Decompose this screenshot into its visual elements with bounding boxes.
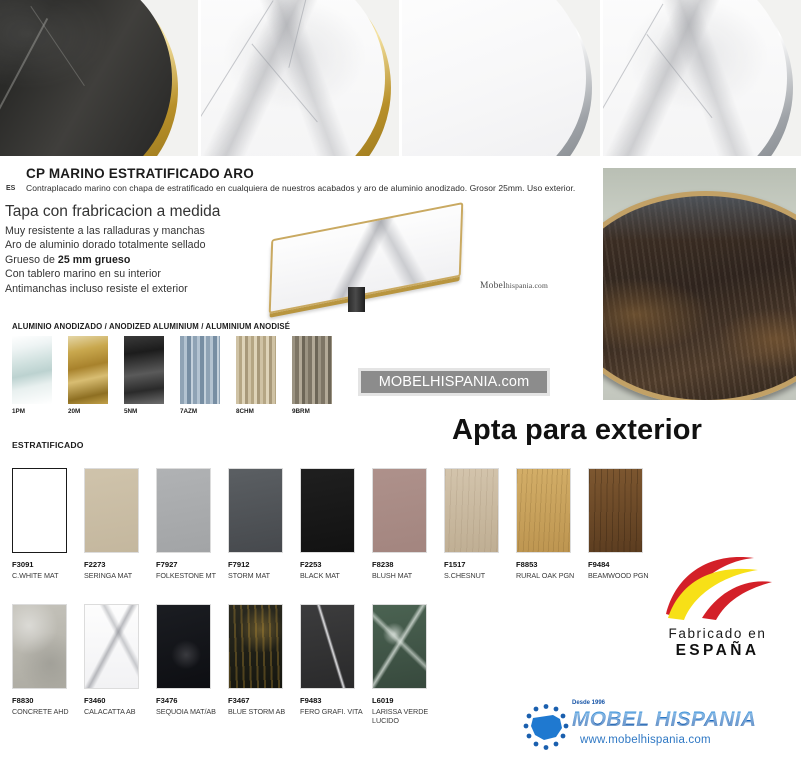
laminate-swatch-color [228,468,283,553]
made-in-spain-badge: Fabricado en ESPAÑA [640,548,795,660]
exterior-banner-text: Apta para exterior [452,414,702,447]
spain-map-icon [522,704,570,750]
aluminium-swatch-color [180,336,220,404]
aluminium-swatch-code: 9BRM [292,408,332,415]
marble-vein [289,0,311,68]
table-column [348,287,365,312]
round-stone-tabletop [603,191,796,400]
laminate-swatch-name: SEQUOIA MAT/AB [156,707,224,716]
laminate-swatch-code: F7912 [228,560,296,569]
laminate-swatch-code: F8830 [12,696,80,705]
laminate-swatch-l6019[interactable]: L6019LARISSA VERDE LUCIDO [372,604,440,725]
laminate-swatch-code: F7927 [156,560,224,569]
laminate-swatch-color [156,468,211,553]
marble-vein [0,18,48,129]
laminate-swatch-name: SERINGA MAT [84,571,152,580]
hero-image-strip [0,0,801,156]
laminate-swatch-code: F9483 [300,696,368,705]
laminate-swatch-name: CALACATTA AB [84,707,152,716]
laminate-swatch-color [444,468,499,553]
laminate-swatch-f3091[interactable]: F3091C.WHITE MAT [12,468,80,580]
laminate-swatch-f7912[interactable]: F7912STORM MAT [228,468,296,580]
catalog-page: CP MARINO ESTRATIFICADO ARO ES Contrapla… [0,0,801,768]
thickness-value: 25 mm grueso [58,254,130,266]
marble-vein [201,0,274,118]
laminate-swatch-name: S.CHESNUT [444,571,512,580]
laminate-swatch-row-2: F8830CONCRETE AHDF3460CALACATTA ABF3476S… [12,604,444,725]
laminate-swatch-color [156,604,211,689]
brand-logo[interactable]: Desde 1996 MOBEL HISPANIA www.mobelhispa… [522,700,794,758]
laminate-swatch-f3476[interactable]: F3476SEQUOIA MAT/AB [156,604,224,725]
logo-brand-name: MOBEL HISPANIA [572,708,756,732]
laminate-swatch-color [84,468,139,553]
laminate-swatch-name: CONCRETE AHD [12,707,80,716]
laminate-swatch-name: LARISSA VERDE LUCIDO [372,707,440,725]
table-top-slab [269,202,464,314]
spain-flag-icon [658,548,778,620]
laminate-swatch-f8238[interactable]: F8238BLUSH MAT [372,468,440,580]
aluminium-swatch-9brm[interactable]: 9BRM [292,336,332,415]
product-render: Mobelhispania.com [262,205,512,310]
laminate-swatch-name: RURAL OAK PGN [516,571,584,580]
laminate-swatch-f7927[interactable]: F7927FOLKESTONE MT [156,468,224,580]
laminate-swatch-name: FERO GRAFI. VITA [300,707,368,716]
laminate-swatch-f1517[interactable]: F1517S.CHESNUT [444,468,512,580]
watermark-box: MOBELHISPANIA.com [358,368,550,396]
made-in-spain-line1: Fabricado en [640,626,795,641]
feature-item: Muy resistente a las ralladuras y mancha… [5,224,255,238]
laminate-swatch-f8830[interactable]: F8830CONCRETE AHD [12,604,80,725]
render-watermark-main: Mobel [480,281,506,291]
aluminium-swatch-code: 1PM [12,408,52,415]
laminate-swatch-code: F2253 [300,560,368,569]
laminate-swatch-code: F1517 [444,560,512,569]
aluminium-section-heading: ALUMINIO ANODIZADO / ANODIZED ALUMINIUM … [12,322,290,331]
outdoor-table-photo [603,168,796,400]
aluminium-swatch-color [124,336,164,404]
marble-vein [646,34,712,118]
features-heading: Tapa con frabricacion a medida [5,203,220,221]
marble-vein [603,4,664,121]
watermark-box-text: MOBELHISPANIA.com [379,374,530,390]
laminate-section-heading: ESTRATIFICADO [12,440,84,450]
marble-vein [30,5,84,85]
hero-panel-black-marble-gold-rim [0,0,198,156]
laminate-swatch-code: F3091 [12,560,80,569]
laminate-swatch-code: F3460 [84,696,152,705]
laminate-swatch-color [588,468,643,553]
aluminium-swatch-color [68,336,108,404]
table-surface-white-marble [603,0,787,156]
laminate-swatch-color [228,604,283,689]
language-tag-es: ES [6,185,15,192]
laminate-swatch-name: STORM MAT [228,571,296,580]
laminate-swatch-f2273[interactable]: F2273SERINGA MAT [84,468,152,580]
aluminium-swatch-code: 20M [68,408,108,415]
hero-panel-white-silver-rim [402,0,600,156]
laminate-swatch-code: L6019 [372,696,440,705]
laminate-swatch-f8853[interactable]: F8853RURAL OAK PGN [516,468,584,580]
render-watermark-tld: .com [532,281,548,290]
laminate-swatch-code: F3467 [228,696,296,705]
laminate-swatch-color [372,604,427,689]
laminate-swatch-code: F8853 [516,560,584,569]
laminate-swatch-code: F8238 [372,560,440,569]
aluminium-swatch-8chm[interactable]: 8CHM [236,336,276,415]
laminate-swatch-color [12,604,67,689]
laminate-swatch-name: BLUSH MAT [372,571,440,580]
laminate-swatch-f3467[interactable]: F3467BLUE STORM AB [228,604,296,725]
table-surface-white-marble [201,0,385,156]
hero-panel-white-marble-silver-rim [603,0,801,156]
feature-item: Aro de aluminio dorado totalmente sellad… [5,238,255,252]
laminate-swatch-code: F2273 [84,560,152,569]
aluminium-swatch-color [12,336,52,404]
laminate-swatch-name: FOLKESTONE MT [156,571,224,580]
laminate-swatch-f2253[interactable]: F2253BLACK MAT [300,468,368,580]
render-watermark-rest: hispania [506,281,533,290]
logo-since-text: Desde 1996 [572,700,605,706]
laminate-swatch-color [84,604,139,689]
made-in-spain-line2: ESPAÑA [640,642,795,660]
feature-item: Con tablero marino en su interior [5,267,255,281]
laminate-swatch-color [300,468,355,553]
laminate-swatch-color [372,468,427,553]
hero-panel-white-marble-gold-rim [201,0,399,156]
logo-website-url[interactable]: www.mobelhispania.com [580,734,711,746]
aluminium-swatch-5nm[interactable]: 5NM [124,336,164,415]
marble-vein [251,43,317,121]
aluminium-swatch-row: 1PM20M5NM7AZM8CHM9BRM [12,336,332,415]
laminate-swatch-f3460[interactable]: F3460CALACATTA AB [84,604,152,725]
thickness-label: Grueso de [5,254,55,266]
aluminium-swatch-1pm[interactable]: 1PM [12,336,52,415]
laminate-swatch-color [516,468,571,553]
aluminium-swatch-code: 8CHM [236,408,276,415]
laminate-swatch-color [12,468,67,553]
product-title: CP MARINO ESTRATIFICADO ARO [26,166,254,181]
laminate-swatch-color [300,604,355,689]
table-surface-white [402,0,586,156]
feature-item-thickness: Grueso de 25 mm grueso [5,253,255,267]
aluminium-swatch-code: 7AZM [180,408,220,415]
laminate-swatch-name: C.WHITE MAT [12,571,80,580]
render-watermark: Mobelhispania.com [480,281,548,291]
aluminium-swatch-20m[interactable]: 20M [68,336,108,415]
aluminium-swatch-color [292,336,332,404]
laminate-swatch-f9483[interactable]: F9483FERO GRAFI. VITA [300,604,368,725]
laminate-swatch-name: BLACK MAT [300,571,368,580]
laminate-swatch-code: F3476 [156,696,224,705]
aluminium-swatch-code: 5NM [124,408,164,415]
feature-item: Antimanchas incluso resiste el exterior [5,282,255,296]
laminate-swatch-row-1: F3091C.WHITE MATF2273SERINGA MATF7927FOL… [12,468,660,580]
aluminium-swatch-color [236,336,276,404]
features-list: Muy resistente a las ralladuras y mancha… [5,224,255,296]
laminate-swatch-name: BLUE STORM AB [228,707,296,716]
table-surface-black-marble [0,0,172,156]
aluminium-swatch-7azm[interactable]: 7AZM [180,336,220,415]
